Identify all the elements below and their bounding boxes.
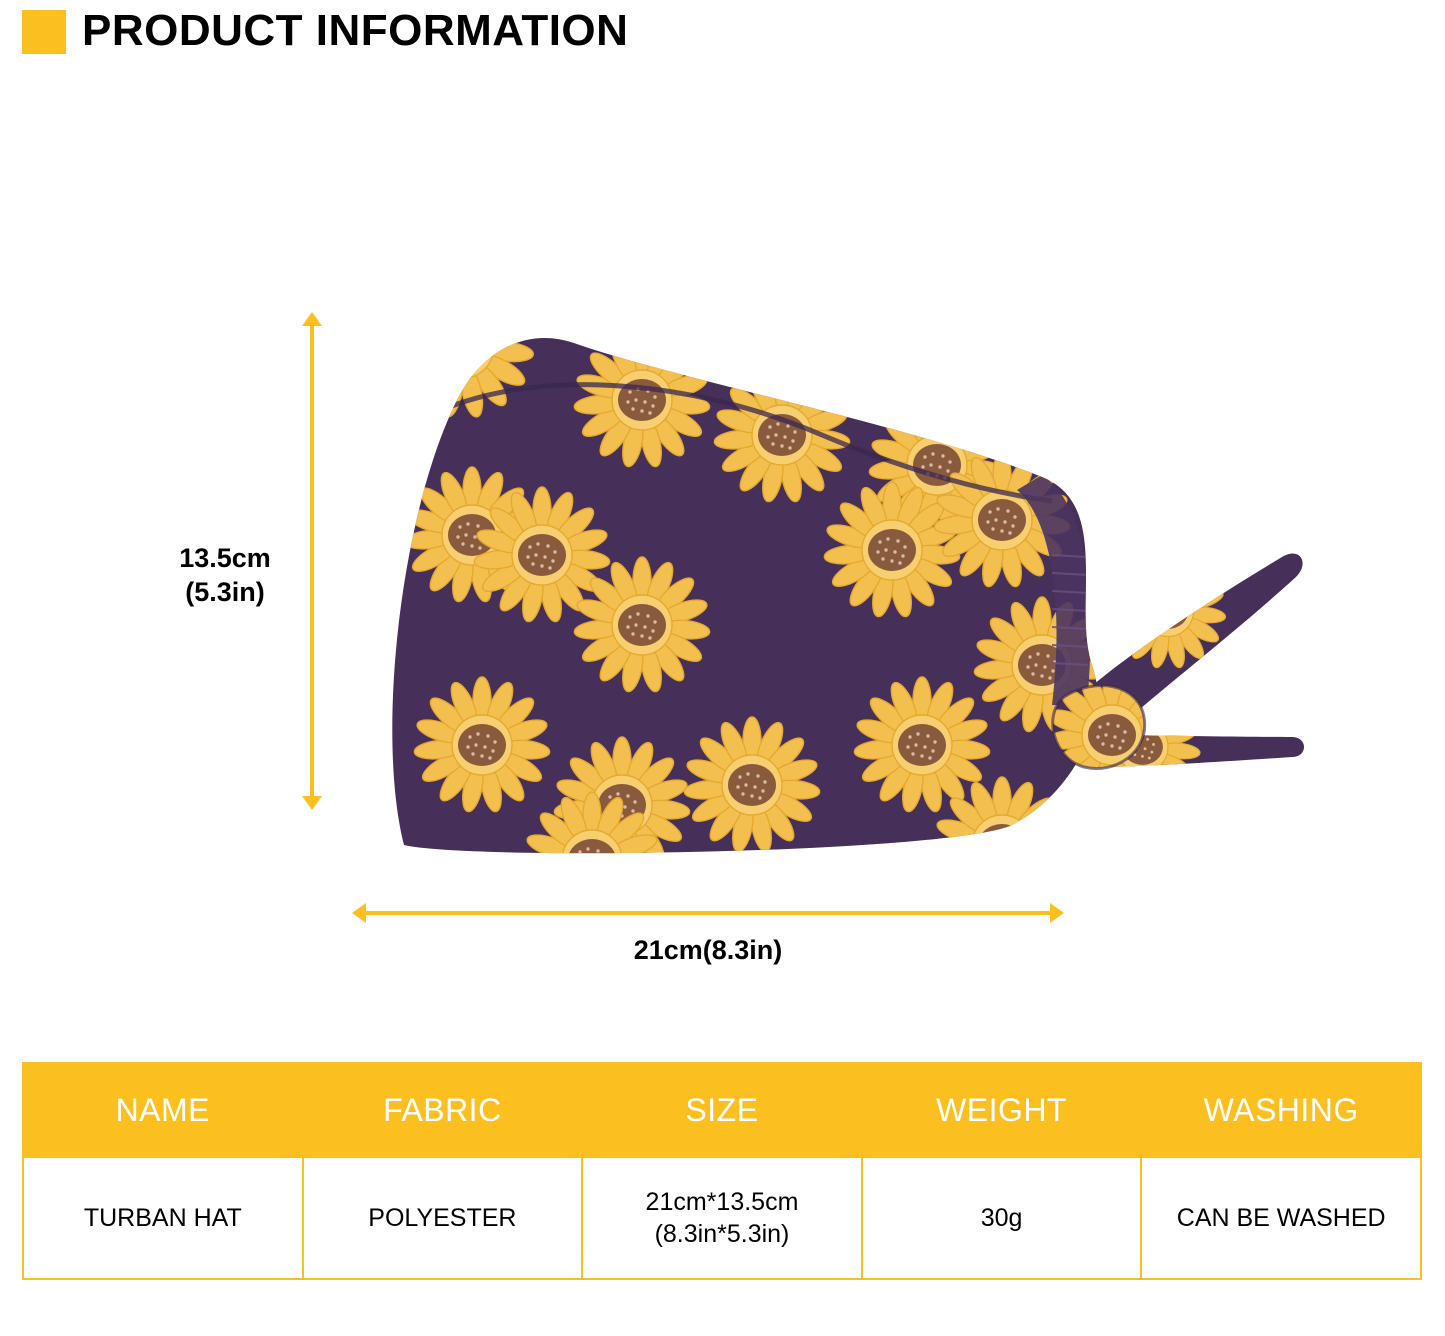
- header-accent-swatch: [22, 10, 66, 54]
- page-header: PRODUCT INFORMATION: [0, 0, 628, 62]
- cell-size: 21cm*13.5cm (8.3in*5.3in): [582, 1157, 862, 1279]
- column-header-weight: WEIGHT: [862, 1063, 1142, 1157]
- height-value-in: (5.3in): [160, 576, 290, 610]
- height-dimension-arrow: [300, 312, 322, 810]
- arrow-right-icon: [1050, 903, 1064, 923]
- cell-size-imperial: (8.3in*5.3in): [584, 1218, 860, 1251]
- specification-table: NAME FABRIC SIZE WEIGHT WASHING TURBAN H…: [22, 1062, 1422, 1280]
- width-dimension-label: 21cm(8.3in): [352, 935, 1064, 966]
- table-header-row: NAME FABRIC SIZE WEIGHT WASHING: [23, 1063, 1421, 1157]
- turban-hat-illustration: [352, 305, 1312, 865]
- cell-weight: 30g: [862, 1157, 1142, 1279]
- column-header-washing: WASHING: [1141, 1063, 1421, 1157]
- dimension-line: [362, 911, 1054, 915]
- product-image-section: 13.5cm (5.3in): [0, 270, 1445, 990]
- cell-washing: CAN BE WASHED: [1141, 1157, 1421, 1279]
- column-header-size: SIZE: [582, 1063, 862, 1157]
- column-header-fabric: FABRIC: [303, 1063, 583, 1157]
- page-title: PRODUCT INFORMATION: [82, 9, 628, 53]
- table-row: TURBAN HAT POLYESTER 21cm*13.5cm (8.3in*…: [23, 1157, 1421, 1279]
- height-dimension-label: 13.5cm (5.3in): [160, 542, 290, 610]
- cell-fabric: POLYESTER: [303, 1157, 583, 1279]
- dimension-line: [310, 322, 314, 800]
- height-value-cm: 13.5cm: [160, 542, 290, 576]
- arrow-down-icon: [302, 796, 322, 810]
- width-dimension-arrow: [352, 902, 1064, 924]
- cell-name: TURBAN HAT: [23, 1157, 303, 1279]
- cell-size-metric: 21cm*13.5cm: [584, 1186, 860, 1219]
- column-header-name: NAME: [23, 1063, 303, 1157]
